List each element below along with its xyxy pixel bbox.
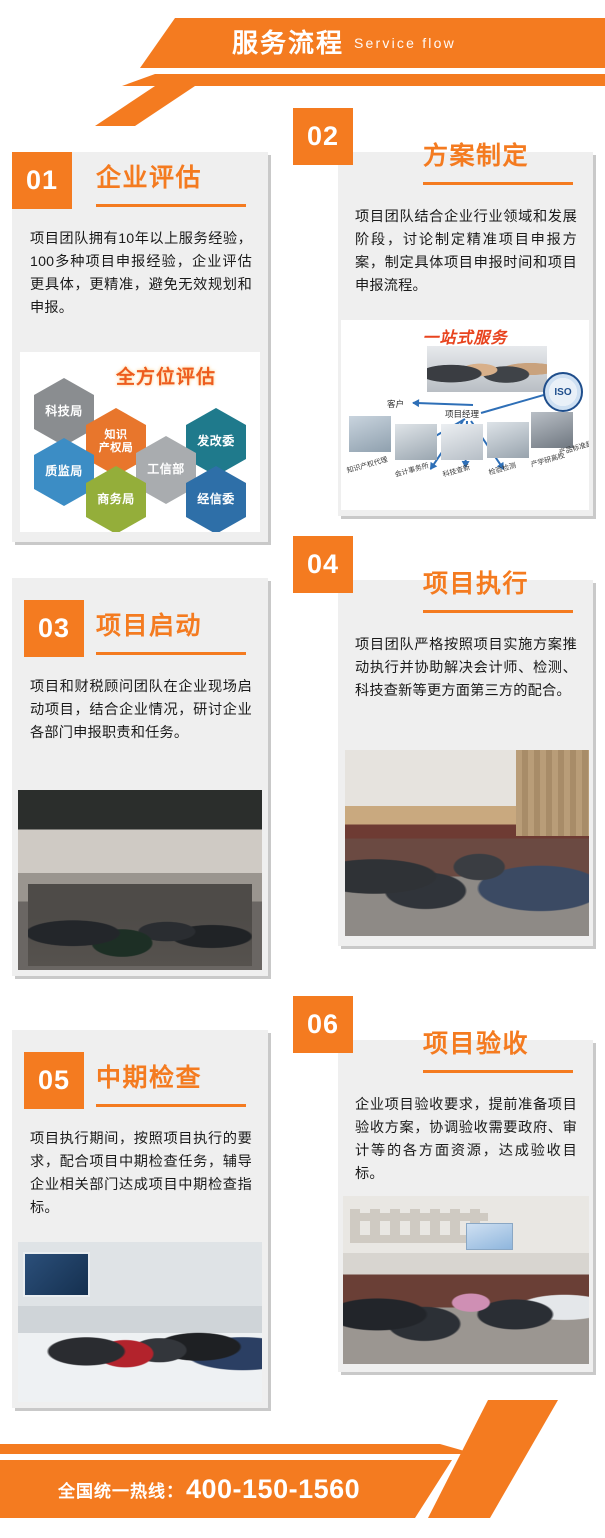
card-number-badge: 01 xyxy=(12,152,72,209)
footer-hotline-number[interactable]: 400-150-1560 xyxy=(186,1474,360,1505)
process-card-grid: 01 企业评估 项目团队拥有10年以上服务经验，100多种项目申报经验，企业评估… xyxy=(0,0,605,1538)
service-thumb-2 xyxy=(395,424,437,460)
card-title-underline xyxy=(423,182,573,185)
photo-content xyxy=(18,790,262,970)
arrow-to-client xyxy=(413,402,473,406)
process-card-06[interactable]: 06 项目验收 企业项目验收要求，提前准备项目验收方案，协调验收需要政府、审计等… xyxy=(293,996,593,1372)
card-title-underline xyxy=(96,204,246,207)
one-stop-title: 一站式服务 xyxy=(341,324,589,348)
process-card-03[interactable]: 03 项目启动 项目和财税顾问团队在企业现场启动项目，结合企业情况，研讨企业各部… xyxy=(12,578,268,976)
card-photo-conference-room xyxy=(18,790,262,970)
one-stop-service-figure: 一站式服务 客户 项目经理 ISO 知识产权代理 会计事务所 科技查新 xyxy=(341,320,589,510)
footer-hotline-group: 全国统一热线： 400-150-1560 xyxy=(0,1460,500,1518)
process-card-05[interactable]: 05 中期检查 项目执行期间，按照项目执行的要求，配合项目中期检查任务，辅导企业… xyxy=(12,1030,268,1408)
hexagon-chart-figure: 全方位评估 科技局 知识产权局 发改委 质监局 工信部 商务局 经信委 xyxy=(20,352,260,532)
process-card-01[interactable]: 01 企业评估 项目团队拥有10年以上服务经验，100多种项目申报经验，企业评估… xyxy=(12,152,268,542)
card-body-text: 项目团队拥有10年以上服务经验，100多种项目申报经验，企业评估更具体，更精准，… xyxy=(30,228,252,320)
service-thumb-3 xyxy=(441,424,483,460)
page-footer: 全国统一热线： 400-150-1560 xyxy=(0,1400,605,1538)
card-number-badge: 04 xyxy=(293,536,353,593)
card-photo-acceptance-meeting xyxy=(343,1196,589,1364)
card-body-text: 项目执行期间，按照项目执行的要求，配合项目中期检查任务，辅导企业相关部门达成项目… xyxy=(30,1128,252,1220)
card-photo-showroom-visit xyxy=(18,1242,262,1402)
service-thumb-5 xyxy=(531,412,573,448)
service-label-3: 科技查新 xyxy=(442,462,472,479)
card-number-badge: 03 xyxy=(24,600,84,657)
infographic-page: 服务流程 Service flow 01 企业评估 项目团队拥有10年以上服务经… xyxy=(0,0,605,1538)
service-thumb-4 xyxy=(487,422,529,458)
card-title-underline xyxy=(96,652,246,655)
card-title-underline xyxy=(423,610,573,613)
card-body-text: 项目团队严格按照项目实施方案推动执行并协助解决会计师、检测、科技查新等更方面第三… xyxy=(355,634,577,703)
photo-content xyxy=(343,1196,589,1364)
card-title-underline xyxy=(423,1070,573,1073)
projector-screen xyxy=(466,1223,513,1250)
card-title: 项目启动 xyxy=(96,614,202,639)
card-body-text: 项目和财税顾问团队在企业现场启动项目，结合企业情况，研讨企业各部门申报职责和任务… xyxy=(30,676,252,745)
service-label-2: 会计事务所 xyxy=(394,461,430,480)
process-card-02[interactable]: 02 方案制定 项目团队结合企业行业领域和发展阶段，讨论制定精准项目申报方案，制… xyxy=(293,108,593,516)
card-number-badge: 02 xyxy=(293,108,353,165)
service-label-4: 检验检测 xyxy=(488,460,518,477)
card-title: 项目执行 xyxy=(423,572,529,597)
card-body-text: 项目团队结合企业行业领域和发展阶段，讨论制定精准项目申报方案，制定具体项目申报时… xyxy=(355,206,577,298)
card-title: 项目验收 xyxy=(423,1032,529,1057)
service-label-1: 知识产权代理 xyxy=(346,455,389,476)
process-card-04[interactable]: 04 项目执行 项目团队严格按照项目实施方案推动执行并协助解决会计师、检测、科技… xyxy=(293,536,593,946)
one-stop-client-label: 客户 xyxy=(387,398,404,410)
card-title-underline xyxy=(96,1104,246,1107)
photo-content xyxy=(345,750,589,936)
hexagon-node-keji: 科技局 xyxy=(34,378,94,446)
card-title: 方案制定 xyxy=(423,144,529,169)
footer-hotline-label: 全国统一热线： xyxy=(58,1477,184,1502)
card-body-text: 企业项目验收要求，提前准备项目验收方案，协调验收需要政府、审计等的各方面资源，达… xyxy=(355,1094,577,1186)
card-title: 企业评估 xyxy=(96,166,202,191)
hexagon-chart-title: 全方位评估 xyxy=(116,362,216,389)
one-stop-team-photo xyxy=(427,346,547,392)
hexagon-node-zhijian: 质监局 xyxy=(34,438,94,506)
service-thumb-1 xyxy=(349,416,391,452)
photo-content xyxy=(18,1242,262,1402)
card-number-badge: 06 xyxy=(293,996,353,1053)
card-title: 中期检查 xyxy=(96,1066,202,1091)
card-number-badge: 05 xyxy=(24,1052,84,1109)
iso-seal-icon: ISO xyxy=(543,372,583,412)
card-photo-meeting-table xyxy=(345,750,589,936)
